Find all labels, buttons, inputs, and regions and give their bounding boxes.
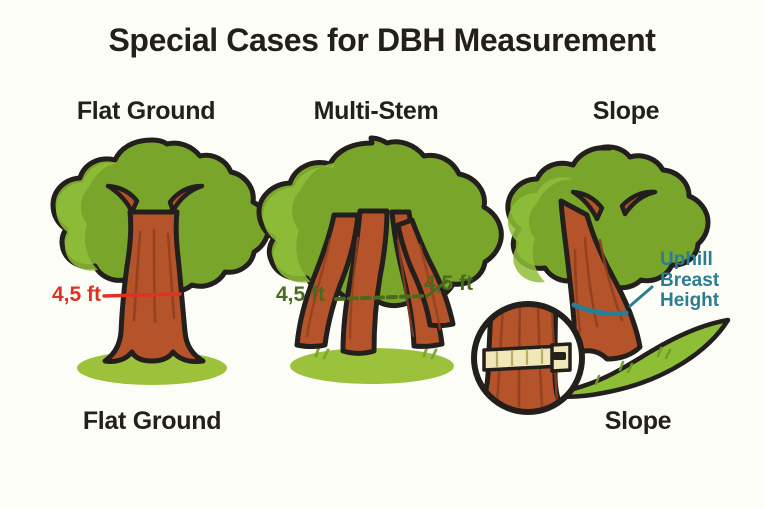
footer-label-slope: Slope <box>605 407 672 436</box>
uphill-leader-line <box>630 287 652 306</box>
uphill-callout-line-2: Breast <box>660 271 719 292</box>
measurement-label-multi-left: 4,5 ft <box>276 283 325 307</box>
multi-stem-tree-group <box>259 138 501 384</box>
measurement-label-multi-right: 4,5 ft <box>424 272 473 296</box>
infographic-canvas: Special Cases for DBH Measurement Flat G… <box>0 0 764 509</box>
footer-label-flat-ground: Flat Ground <box>83 407 221 436</box>
flat-ground-tree-group <box>53 140 268 385</box>
uphill-breast-height-callout: Uphill Breast Height <box>660 250 719 312</box>
dbh-line-flat <box>104 294 180 296</box>
uphill-callout-line-1: Uphill <box>660 250 719 271</box>
uphill-callout-line-3: Height <box>660 291 719 312</box>
tape-measure-magnifier-icon <box>472 296 582 420</box>
measurement-label-flat: 4,5 ft <box>52 283 101 307</box>
